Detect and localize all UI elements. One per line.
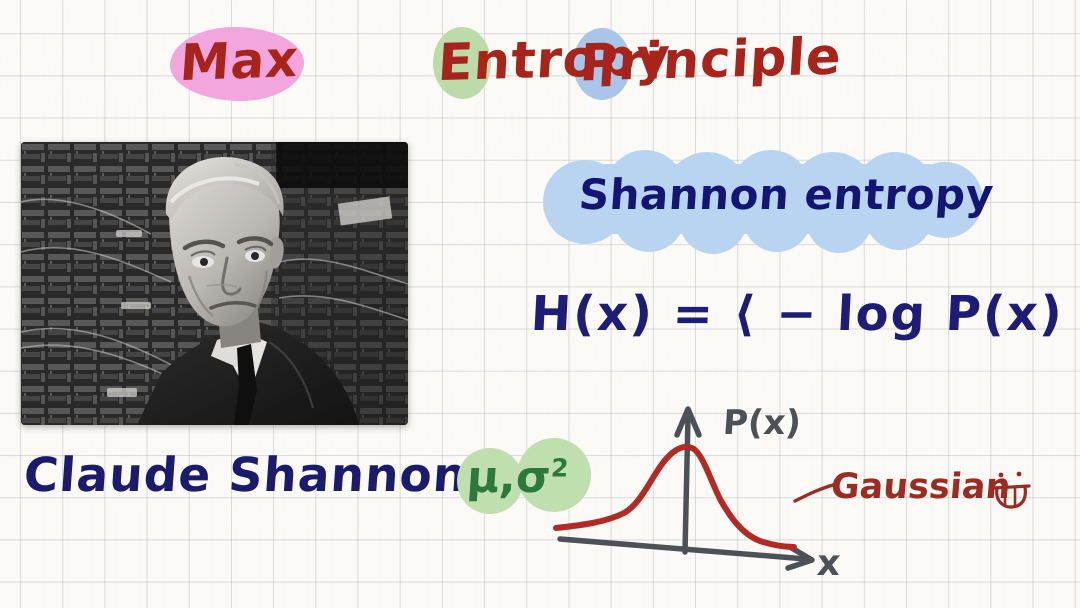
shannon-entropy-label: Shannon entropy bbox=[577, 170, 995, 219]
note-page: Max Entropy Principle bbox=[0, 0, 1080, 608]
x-axis-label: x bbox=[816, 543, 842, 584]
entropy-formula: H(x) = ⟨ − log P(x) ⟩ bbox=[530, 286, 1080, 342]
title-word-max: Max bbox=[178, 30, 301, 92]
gaussian-annotation: Gaussian bbox=[793, 455, 1080, 535]
gaussian-label: Gaussian bbox=[829, 467, 1012, 507]
photo-caption: Claude Shannon bbox=[22, 448, 469, 503]
y-axis-label: P(x) bbox=[722, 403, 803, 443]
title-word-principle: Principle bbox=[578, 28, 843, 94]
claude-shannon-photo bbox=[21, 142, 408, 425]
mu-sigma-text: μ,σ bbox=[465, 452, 552, 503]
sigma-exponent: 2 bbox=[550, 453, 569, 482]
shannon-entropy-callout: Shannon entropy bbox=[527, 150, 995, 254]
mu-sigma-label: μ,σ2 bbox=[465, 452, 569, 503]
